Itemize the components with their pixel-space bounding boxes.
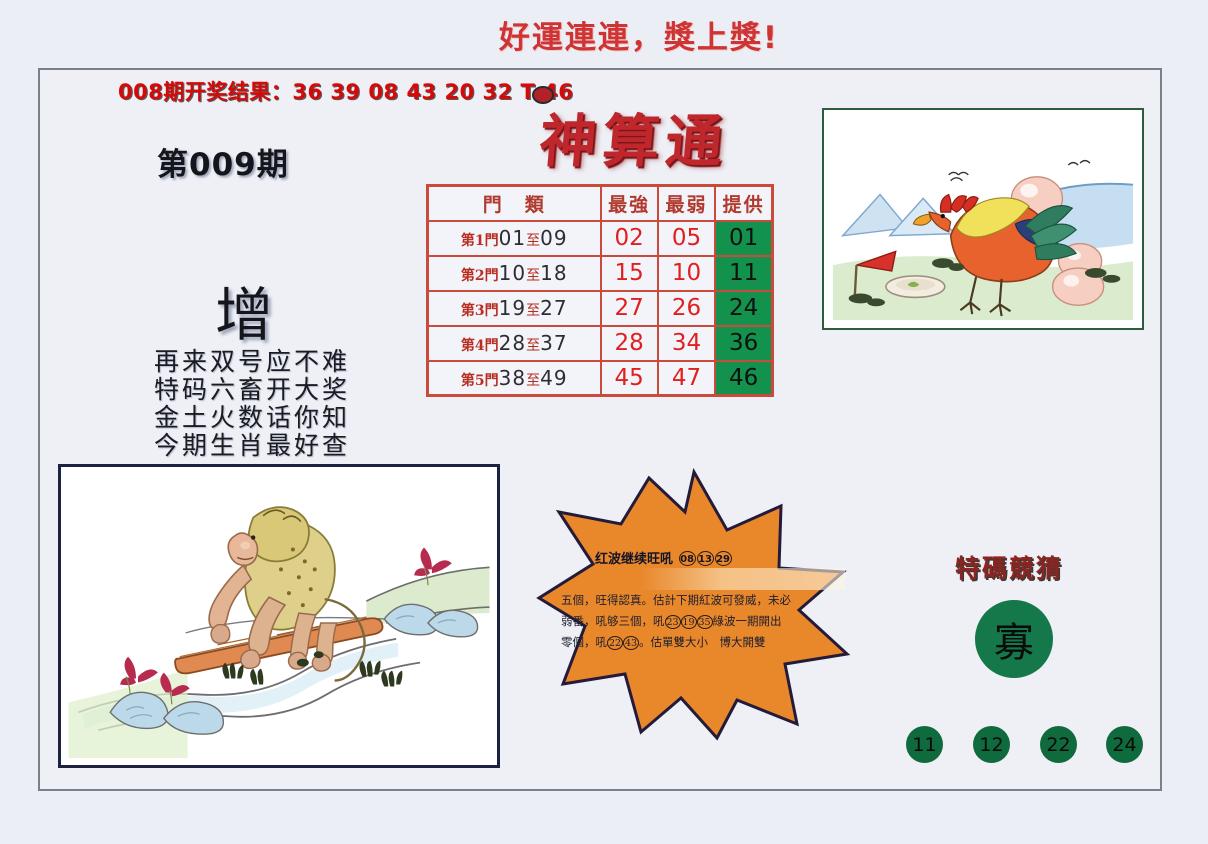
- row-3-offer: 36: [715, 326, 772, 361]
- line2-num-3: 35: [697, 615, 713, 629]
- row-1-zhi: 至: [526, 268, 540, 284]
- row-4-offer: 46: [715, 361, 772, 396]
- table-row: 第5門38至49454746: [428, 361, 773, 396]
- row-2-zhi: 至: [526, 303, 540, 319]
- row-1-offer: 11: [715, 256, 772, 291]
- header-offer: 提供: [715, 186, 772, 221]
- row-1-gate: 第2門: [461, 268, 499, 284]
- line2-num-1: 23: [665, 615, 681, 629]
- row-3-strongest: 28: [601, 326, 658, 361]
- row-0-weakest: 05: [658, 221, 715, 256]
- banner-slogan: 好運連連，獎上獎!: [499, 12, 779, 57]
- row-4-category: 第5門38至49: [428, 361, 601, 396]
- monkey-canvas: [68, 474, 490, 758]
- starburst-text: 红波继续旺吼 081329 五個，旺得認真。估計下期紅波可發威，未必 弱番，吼够…: [535, 468, 853, 742]
- line2-num-2: 19: [681, 615, 697, 629]
- table-row: 第4門28至37283436: [428, 326, 773, 361]
- row-3-zhi: 至: [526, 338, 540, 354]
- table-row: 第2門10至18151011: [428, 256, 773, 291]
- previous-draw-result: 008期开奖结果：36 39 08 43 20 32 T 46: [118, 76, 573, 106]
- row-2-gate: 第3門: [461, 303, 499, 319]
- guess-number-balls: 11122224: [906, 726, 1106, 768]
- table-row: 第1門01至09020501: [428, 221, 773, 256]
- rooster-svg: [832, 118, 1134, 320]
- row-1-weakest: 10: [658, 256, 715, 291]
- brand-title: 神算通: [536, 96, 732, 178]
- header-strongest: 最強: [601, 186, 658, 221]
- row-0-category: 第1門01至09: [428, 221, 601, 256]
- row-2-category: 第3門19至27: [428, 291, 601, 326]
- row-1-to: 18: [540, 261, 567, 285]
- row-0-zhi: 至: [526, 233, 540, 249]
- row-4-gate: 第5門: [461, 373, 499, 389]
- poem-line-3: 金土火数话你知: [146, 404, 358, 432]
- feature-character: 增: [215, 268, 273, 352]
- row-3-from: 28: [499, 331, 526, 355]
- row-4-to: 49: [540, 366, 567, 390]
- rooster-illustration: [822, 108, 1144, 330]
- row-3-to: 37: [540, 331, 567, 355]
- row-3-category: 第4門28至37: [428, 326, 601, 361]
- starburst-headline-text: 红波继续旺吼: [595, 552, 673, 567]
- row-0-gate: 第1門: [461, 233, 499, 249]
- row-4-zhi: 至: [526, 373, 540, 389]
- guess-ball-0: 11: [906, 726, 943, 763]
- line3-num-2: 43: [623, 636, 639, 650]
- top-banner: 好運連連，獎上獎!: [0, 12, 1208, 57]
- line2-suffix: 綠波一期開出: [713, 614, 782, 628]
- starburst-headline-num-2: 13: [697, 551, 714, 566]
- table-row: 第3門19至27272624: [428, 291, 773, 326]
- guess-ball-1: 12: [973, 726, 1010, 763]
- prediction-table: 門 類 最強 最弱 提供 第1門01至09020501第2門10至1815101…: [426, 184, 774, 397]
- header-category: 門 類: [428, 186, 601, 221]
- row-2-to: 27: [540, 296, 567, 320]
- line3-suffix: 。估單雙大小 博大開雙: [639, 635, 766, 649]
- row-4-weakest: 47: [658, 361, 715, 396]
- starburst-callout: 红波继续旺吼 081329 五個，旺得認真。估計下期紅波可發威，未必 弱番，吼够…: [535, 468, 853, 742]
- poem-line-1: 再来双号应不难: [146, 348, 358, 376]
- monkey-svg: [68, 474, 490, 758]
- guess-ball-3: 24: [1106, 726, 1143, 763]
- guess-ball-2: 22: [1040, 726, 1077, 763]
- row-2-weakest: 26: [658, 291, 715, 326]
- starburst-headline-num-3: 29: [715, 551, 732, 566]
- line3-num-1: 22: [607, 636, 623, 650]
- row-2-strongest: 27: [601, 291, 658, 326]
- row-4-strongest: 45: [601, 361, 658, 396]
- row-2-from: 19: [499, 296, 526, 320]
- row-0-strongest: 02: [601, 221, 658, 256]
- special-code-guess-title: 特碼競猜: [955, 549, 1063, 585]
- starburst-body-line-3: 零個，吼2243。估單雙大小 博大開雙: [561, 632, 833, 653]
- guess-main-ball: 寡: [975, 600, 1053, 678]
- poem-line-2: 特码六畜开大奖: [146, 376, 358, 404]
- starburst-body-line-2: 弱番，吼够三個，吼231935綠波一期開出: [561, 611, 833, 632]
- current-issue-label: 第009期: [157, 139, 289, 184]
- row-3-weakest: 34: [658, 326, 715, 361]
- row-0-offer: 01: [715, 221, 772, 256]
- table-header-row: 門 類 最強 最弱 提供: [428, 186, 773, 221]
- starburst-headline-num-1: 08: [679, 551, 696, 566]
- row-1-from: 10: [499, 261, 526, 285]
- lottery-poster-page: 好運連連，獎上獎! 008期开奖结果：36 39 08 43 20 32 T 4…: [0, 0, 1208, 844]
- starburst-body: 五個，旺得認真。估計下期紅波可發威，未必 弱番，吼够三個，吼231935綠波一期…: [561, 590, 833, 653]
- row-0-from: 01: [499, 226, 526, 250]
- monkey-illustration: [58, 464, 500, 768]
- row-2-offer: 24: [715, 291, 772, 326]
- header-weakest: 最弱: [658, 186, 715, 221]
- row-1-strongest: 15: [601, 256, 658, 291]
- line2-prefix: 弱番，吼够三個，吼: [561, 614, 665, 628]
- row-4-from: 38: [499, 366, 526, 390]
- prediction-poem: 再来双号应不难 特码六畜开大奖 金土火数话你知 今期生肖最好查: [146, 348, 358, 460]
- starburst-body-line-1: 五個，旺得認真。估計下期紅波可發威，未必: [561, 590, 833, 611]
- row-3-gate: 第4門: [461, 338, 499, 354]
- poem-line-4: 今期生肖最好查: [146, 432, 358, 460]
- row-1-category: 第2門10至18: [428, 256, 601, 291]
- rooster-canvas: [832, 118, 1134, 320]
- row-0-to: 09: [540, 226, 567, 250]
- starburst-headline: 红波继续旺吼 081329: [595, 548, 732, 567]
- line3-prefix: 零個，吼: [561, 635, 607, 649]
